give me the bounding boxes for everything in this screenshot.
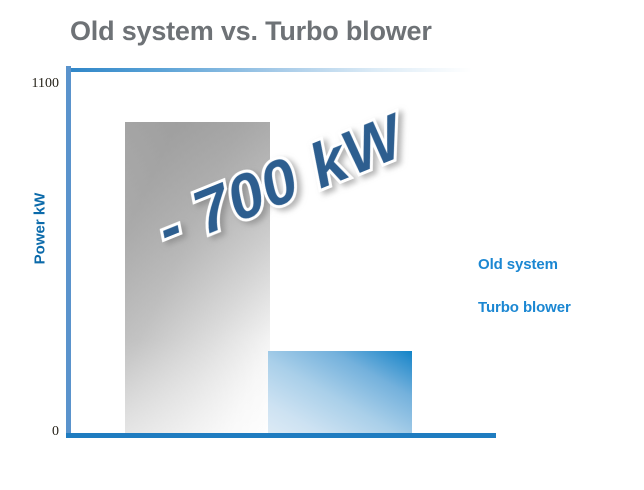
y-axis-line <box>66 66 71 438</box>
y-axis-tick-min: 0 <box>52 424 59 440</box>
legend: Old system Turbo blower <box>478 256 638 342</box>
legend-item-turbo-blower[interactable]: Turbo blower <box>478 299 638 316</box>
x-axis-line <box>66 433 496 438</box>
y-axis-title: Power kW <box>32 169 49 289</box>
plot-area <box>70 70 470 434</box>
plot-top-border <box>70 68 472 72</box>
chart-canvas: Old system vs. Turbo blower 1100 0 Power… <box>0 0 644 490</box>
chart-title: Old system vs. Turbo blower <box>70 16 432 47</box>
legend-item-old-system[interactable]: Old system <box>478 256 638 273</box>
y-axis-tick-max: 1100 <box>32 76 59 92</box>
bar-turbo-blower[interactable] <box>268 351 412 433</box>
